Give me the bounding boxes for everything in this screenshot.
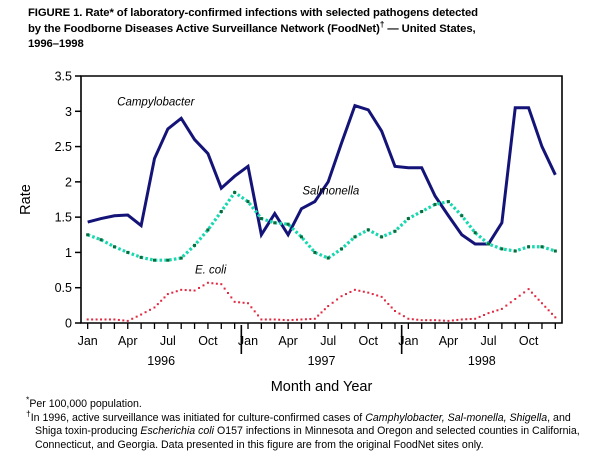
- figure-title: FIGURE 1. Rate* of laboratory-confirmed …: [28, 6, 588, 53]
- series-point: [354, 289, 356, 291]
- x-axis-month-label: Jul: [160, 334, 176, 348]
- series-point: [488, 312, 490, 314]
- series-point: [398, 313, 400, 315]
- footnote-italic-1: Camphylobacter, Sal-: [365, 412, 466, 424]
- series-point: [136, 316, 138, 318]
- figure-title-line-3: 1996–1998: [28, 38, 84, 50]
- series-point: [403, 315, 405, 317]
- series-line: [88, 106, 556, 244]
- series-point: [193, 244, 196, 247]
- series-point: [122, 319, 124, 321]
- series-point: [87, 318, 89, 320]
- series-point: [257, 314, 259, 316]
- series-point: [220, 283, 222, 285]
- series-point: [113, 245, 116, 248]
- series-point: [479, 316, 481, 318]
- series-point: [447, 320, 449, 322]
- x-axis-month-label: Apr: [118, 334, 137, 348]
- series-point: [145, 311, 147, 313]
- series-point: [265, 318, 267, 320]
- series-point: [238, 301, 240, 303]
- series-point: [496, 309, 498, 311]
- series-point: [341, 295, 343, 297]
- series-point: [283, 319, 285, 321]
- series-point: [324, 308, 326, 310]
- series-point: [420, 210, 423, 213]
- series-point: [243, 302, 245, 304]
- series-point: [514, 250, 517, 253]
- series-point: [551, 313, 553, 315]
- series-point: [287, 223, 290, 226]
- series-point: [153, 306, 155, 308]
- series-point: [247, 302, 249, 304]
- series-point: [153, 259, 156, 262]
- series-point: [100, 238, 103, 241]
- series-point: [167, 293, 169, 295]
- series-point: [109, 318, 111, 320]
- series-point: [492, 311, 494, 313]
- series-point: [140, 256, 143, 259]
- footnote-asterisk-text: Per 100,000 population.: [29, 398, 142, 410]
- footnote-italic-2: monella, Shigella: [466, 412, 547, 424]
- series-point: [544, 306, 546, 308]
- x-axis-month-label: Oct: [359, 334, 379, 348]
- series-point: [421, 319, 423, 321]
- series-point: [434, 203, 437, 206]
- x-axis-month-label: Jul: [481, 334, 497, 348]
- series-point: [296, 319, 298, 321]
- series-point: [321, 311, 323, 313]
- series-point: [465, 318, 467, 320]
- x-axis-month-label: Apr: [439, 334, 458, 348]
- series-point: [376, 294, 378, 296]
- series-point: [273, 221, 276, 224]
- series-point: [519, 295, 521, 297]
- x-axis-year-label: 1998: [468, 354, 496, 368]
- x-axis-title: Month and Year: [271, 379, 373, 393]
- series-point: [381, 296, 383, 298]
- series-point: [202, 284, 204, 286]
- series-point: [358, 290, 360, 292]
- series-annotation-campylobacter: Campylobacter: [117, 97, 196, 109]
- series-point: [194, 290, 196, 292]
- series-point: [118, 319, 120, 321]
- series-point: [327, 305, 329, 307]
- series-point: [224, 288, 226, 290]
- series-point: [384, 299, 386, 301]
- series-point: [227, 292, 229, 294]
- series-point: [149, 309, 151, 311]
- series-point: [541, 302, 543, 304]
- series-point: [113, 318, 115, 320]
- series-point: [554, 250, 557, 253]
- series-point: [372, 293, 374, 295]
- series-point: [96, 318, 98, 320]
- footnote-asterisk: *Per 100,000 population.: [26, 398, 592, 412]
- series-point: [269, 318, 271, 320]
- series-point: [340, 247, 343, 250]
- series-point: [487, 242, 490, 245]
- series-point: [309, 318, 311, 320]
- series-point: [317, 315, 319, 317]
- series-point: [274, 318, 276, 320]
- series-point: [254, 310, 256, 312]
- series-point: [461, 318, 463, 320]
- series-point: [407, 318, 409, 320]
- series-annotation-e-coli: E. coli: [195, 265, 227, 277]
- series-point: [91, 318, 93, 320]
- series-point: [425, 319, 427, 321]
- series-point: [234, 301, 236, 303]
- series-point: [430, 319, 432, 321]
- series-point: [456, 319, 458, 321]
- series-point: [367, 292, 369, 294]
- x-axis-month-label: Jul: [320, 334, 336, 348]
- series-point: [416, 319, 418, 321]
- series-point: [189, 289, 191, 291]
- series-point: [140, 314, 142, 316]
- y-axis-tick-label: 3: [65, 105, 72, 119]
- series-point: [131, 318, 133, 320]
- y-axis-tick-label: 1: [65, 246, 72, 260]
- series-point: [216, 283, 218, 285]
- x-axis-year-label: 1997: [308, 354, 336, 368]
- series-point: [407, 217, 410, 220]
- series-point: [523, 291, 525, 293]
- x-axis-month-label: Jan: [78, 334, 98, 348]
- series-point: [554, 316, 556, 318]
- x-axis-month-label: Apr: [278, 334, 297, 348]
- series-point: [287, 319, 289, 321]
- y-axis-tick-label: 3.5: [55, 70, 72, 84]
- y-axis-tick-label: 1.5: [55, 211, 72, 225]
- series-point: [166, 259, 169, 262]
- series-point: [104, 318, 106, 320]
- series-point: [171, 292, 173, 294]
- figure-page: FIGURE 1. Rate* of laboratory-confirmed …: [0, 0, 604, 476]
- series-point: [505, 305, 507, 307]
- footnote-dagger: †In 1996, active surveillance was initia…: [26, 412, 592, 453]
- series-point: [185, 289, 187, 291]
- series-point: [443, 320, 445, 322]
- series-point: [531, 292, 533, 294]
- series-point: [528, 288, 530, 290]
- series-point: [160, 300, 162, 302]
- series-point: [278, 319, 280, 321]
- series-point: [176, 290, 178, 292]
- series-point: [393, 230, 396, 233]
- series-point: [534, 295, 536, 297]
- series-point: [126, 251, 129, 254]
- series-point: [233, 191, 236, 194]
- series-point: [260, 217, 263, 220]
- series-point: [538, 299, 540, 301]
- series-point: [501, 308, 503, 310]
- plot-frame: [81, 76, 562, 323]
- series-point: [86, 233, 89, 236]
- series-point: [474, 231, 477, 234]
- series-point: [391, 306, 393, 308]
- series-point: [198, 287, 200, 289]
- series-point: [230, 296, 232, 298]
- figure-title-line-2b: — United States,: [384, 23, 475, 35]
- series-point: [353, 235, 356, 238]
- series-point: [439, 319, 441, 321]
- series-point: [157, 303, 159, 305]
- y-axis-title: Rate: [18, 184, 34, 215]
- series-point: [548, 309, 550, 311]
- series-point: [180, 289, 182, 291]
- chart-container: 00.511.522.533.5RateJanAprJulOctJanAprJu…: [0, 58, 604, 393]
- series-point: [127, 320, 129, 322]
- series-point: [349, 291, 351, 293]
- series-point: [412, 318, 414, 320]
- series-e-coli: [87, 282, 557, 322]
- series-point: [327, 257, 330, 260]
- series-point: [460, 214, 463, 217]
- series-point: [345, 293, 347, 295]
- footnote-dagger-part1: In 1996, active surveillance was initiat…: [31, 412, 365, 424]
- figure-title-line-1: FIGURE 1. Rate* of laboratory-confirmed …: [28, 7, 478, 19]
- series-point: [332, 302, 334, 304]
- series-campylobacter: [88, 106, 556, 244]
- series-point: [250, 306, 252, 308]
- series-point: [434, 319, 436, 321]
- series-point: [220, 210, 223, 213]
- series-point: [380, 235, 383, 238]
- series-point: [387, 303, 389, 305]
- series-point: [483, 314, 485, 316]
- x-axis-month-label: Oct: [198, 334, 218, 348]
- series-point: [336, 298, 338, 300]
- series-point: [447, 200, 450, 203]
- series-point: [363, 291, 365, 293]
- series-point: [527, 245, 530, 248]
- series-point: [305, 318, 307, 320]
- series-point: [260, 318, 262, 320]
- y-axis-tick-label: 0.5: [55, 281, 72, 295]
- series-point: [470, 318, 472, 320]
- series-point: [510, 301, 512, 303]
- series-point: [313, 251, 316, 254]
- rate-line-chart: 00.511.522.533.5RateJanAprJulOctJanAprJu…: [0, 58, 604, 393]
- series-point: [100, 318, 102, 320]
- series-point: [500, 247, 503, 250]
- y-axis-tick-label: 2.5: [55, 140, 72, 154]
- series-annotation-salmonella: Salmonella: [302, 186, 359, 198]
- series-point: [300, 318, 302, 320]
- y-axis-tick-label: 0: [65, 317, 72, 331]
- x-axis-month-label: Oct: [519, 334, 539, 348]
- series-point: [300, 235, 303, 238]
- series-point: [474, 318, 476, 320]
- series-point: [180, 257, 183, 260]
- series-point: [394, 310, 396, 312]
- footnote-italic-3: Escherichia coli: [140, 425, 214, 437]
- y-axis-tick-label: 2: [65, 175, 72, 189]
- series-point: [247, 200, 250, 203]
- series-point: [164, 296, 166, 298]
- series-point: [367, 228, 370, 231]
- series-point: [540, 245, 543, 248]
- series-point: [292, 319, 294, 321]
- series-point: [207, 282, 209, 284]
- series-point: [314, 318, 316, 320]
- series-point: [206, 228, 209, 231]
- series-salmonella: [86, 191, 557, 262]
- series-point: [514, 298, 516, 300]
- series-point: [452, 319, 454, 321]
- series-line: [88, 192, 556, 260]
- x-axis-year-label: 1996: [147, 354, 175, 368]
- figure-title-line-2a: by the Foodborne Diseases Active Surveil…: [28, 23, 380, 35]
- footnotes: *Per 100,000 population. †In 1996, activ…: [26, 398, 592, 452]
- series-point: [211, 282, 213, 284]
